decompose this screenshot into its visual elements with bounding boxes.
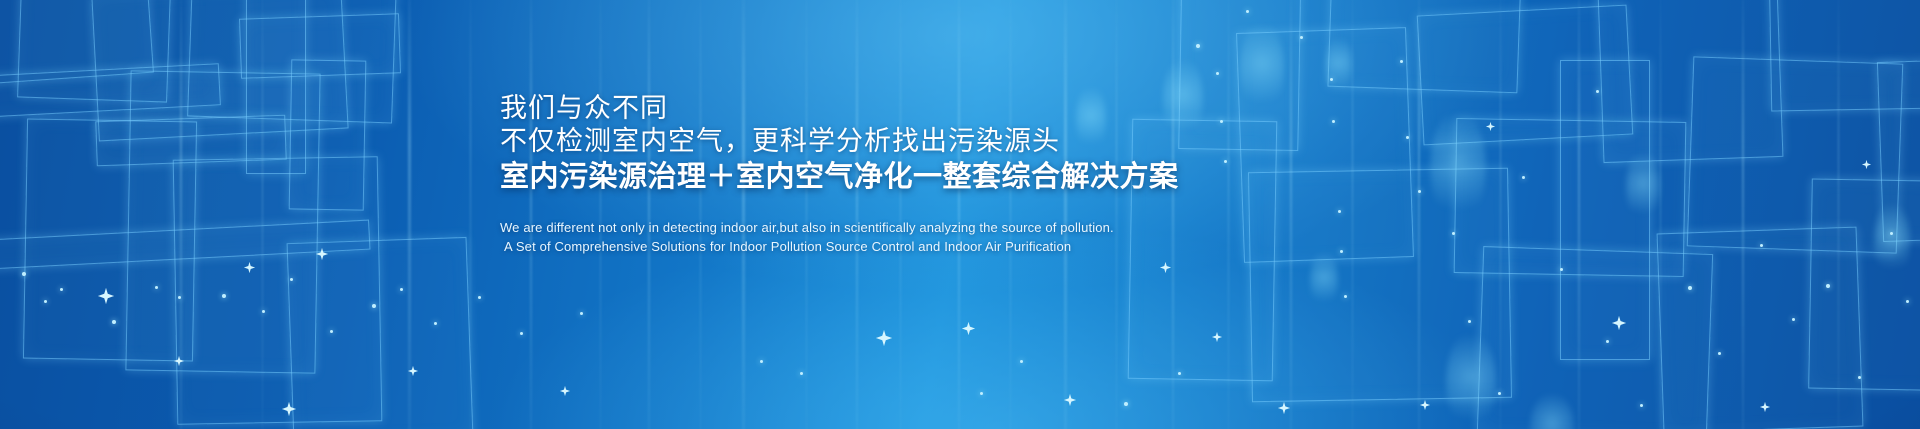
decor-light-streak — [1838, 0, 1839, 429]
decor-particle-dot — [1124, 402, 1128, 406]
decor-particle-dot — [112, 320, 116, 324]
decor-rectangle — [0, 220, 371, 271]
decor-sparkle-star — [244, 262, 255, 273]
decor-particle-dot — [1344, 295, 1347, 298]
decor-particle-dot — [1890, 232, 1893, 235]
decor-particle-dot — [1858, 376, 1861, 379]
decor-rectangle — [173, 156, 383, 425]
decor-particle-dot — [330, 330, 333, 333]
decor-rectangle — [287, 237, 474, 429]
decor-particle-dot — [262, 310, 265, 313]
decor-rectangle — [289, 59, 367, 210]
decor-rectangle — [1327, 0, 1522, 93]
decor-rectangle — [1877, 58, 1920, 242]
decor-sparkle-star — [560, 386, 570, 396]
subtitle-line-1: We are different not only in detecting i… — [500, 218, 1500, 237]
decor-particle-dot — [155, 286, 158, 289]
decor-particle-dot — [1596, 90, 1599, 93]
decor-particle-dot — [1792, 318, 1795, 321]
decor-particle-dot — [434, 322, 437, 325]
subtitle-line-2: A Set of Comprehensive Solutions for Ind… — [500, 237, 1500, 256]
decor-rectangle — [17, 0, 173, 103]
decor-particle-dot — [520, 332, 523, 335]
decor-particle-dot — [372, 304, 376, 308]
decor-rectangle — [246, 0, 306, 174]
decor-particle-dot — [980, 392, 983, 395]
decor-sparkle-star — [962, 322, 975, 335]
decor-particle-dot — [1178, 372, 1181, 375]
decor-particle-dot — [1606, 340, 1609, 343]
decor-particle-dot — [1640, 404, 1643, 407]
decor-rectangle — [1597, 0, 1784, 163]
decor-bokeh-blob — [1310, 250, 1338, 310]
decor-particle-dot — [1246, 10, 1249, 13]
decor-sparkle-star — [1862, 160, 1871, 169]
decor-particle-dot — [400, 288, 403, 291]
decor-sparkle-star — [1420, 400, 1430, 410]
decor-light-streak — [408, 0, 411, 429]
decor-light-streak — [470, 0, 471, 429]
decor-particle-dot — [222, 294, 226, 298]
decor-particle-dot — [1718, 352, 1721, 355]
decor-sparkle-star — [408, 366, 418, 376]
decor-particle-dot — [1216, 72, 1219, 75]
subtitle-block: We are different not only in detecting i… — [500, 218, 1500, 256]
decor-sparkle-star — [1064, 394, 1076, 406]
headline-line-3-emphasis: 室内污染源治理＋室内空气净化一整套综合解决方案 — [500, 158, 1500, 196]
decor-particle-dot — [1330, 78, 1333, 81]
decor-rectangle — [1477, 246, 1713, 429]
decor-rectangle — [239, 13, 401, 79]
decor-rectangle — [1687, 56, 1904, 253]
decor-particle-dot — [1300, 36, 1303, 39]
decor-rectangle — [0, 63, 221, 119]
decor-bokeh-blob — [1626, 150, 1660, 224]
decor-particle-dot — [1826, 284, 1830, 288]
decor-sparkle-star — [1278, 402, 1290, 414]
decor-particle-dot — [1522, 176, 1525, 179]
decor-sparkle-star — [876, 330, 892, 346]
decor-bokeh-blob — [1326, 34, 1352, 98]
decor-sparkle-star — [1160, 262, 1171, 273]
hero-banner: 我们与众不同 不仅检测室内空气，更科学分析找出污染源头 室内污染源治理＋室内空气… — [0, 0, 1920, 429]
decor-particle-dot — [478, 296, 481, 299]
decor-particle-dot — [44, 300, 47, 303]
decor-particle-dot — [60, 288, 63, 291]
decor-particle-dot — [1688, 286, 1692, 290]
decor-bokeh-blob — [1530, 392, 1574, 429]
decor-particle-dot — [800, 372, 803, 375]
decor-particle-dot — [1196, 44, 1200, 48]
decor-bokeh-blob — [1874, 200, 1910, 280]
decor-rectangle — [0, 0, 154, 87]
decor-rectangle — [1657, 227, 1864, 429]
decor-particle-dot — [1020, 360, 1023, 363]
decor-rectangle — [1808, 179, 1920, 392]
decor-particle-dot — [580, 312, 583, 315]
decor-sparkle-star — [174, 356, 184, 366]
decor-rectangle — [187, 0, 398, 124]
decor-rectangle — [125, 70, 320, 373]
decor-rectangle — [1769, 0, 1920, 111]
decor-particle-dot — [1906, 300, 1909, 303]
decor-light-streak — [1742, 0, 1744, 429]
decor-particle-dot — [1760, 244, 1763, 247]
decor-particle-dot — [1560, 268, 1563, 271]
decor-particle-dot — [1498, 392, 1501, 395]
decor-bokeh-blob — [1446, 330, 1496, 429]
decor-sparkle-star — [98, 288, 114, 304]
decor-light-streak — [1660, 0, 1661, 429]
decor-particle-dot — [290, 278, 293, 281]
decor-sparkle-star — [316, 248, 328, 260]
decor-sparkle-star — [282, 402, 296, 416]
decor-rectangle — [91, 0, 348, 141]
decor-sparkle-star — [1612, 316, 1626, 330]
decor-sparkle-star — [1760, 402, 1770, 412]
decor-light-streak — [1578, 0, 1580, 429]
decor-particle-dot — [760, 360, 763, 363]
decor-particle-dot — [22, 272, 26, 276]
decor-light-streak — [262, 0, 263, 429]
decor-rectangle — [1560, 60, 1650, 360]
banner-copy-block: 我们与众不同 不仅检测室内空气，更科学分析找出污染源头 室内污染源治理＋室内空气… — [500, 92, 1500, 256]
decor-light-streak — [180, 0, 182, 429]
decor-sparkle-star — [1212, 332, 1222, 342]
decor-rectangle — [95, 115, 286, 167]
decor-light-streak — [1500, 0, 1501, 429]
decor-particle-dot — [1400, 60, 1403, 63]
decor-particle-dot — [178, 296, 181, 299]
decor-rectangle — [23, 119, 197, 362]
headline-line-1: 我们与众不同 — [500, 92, 1500, 125]
headline-line-2: 不仅检测室内空气，更科学分析找出污染源头 — [500, 125, 1500, 158]
decor-particle-dot — [1468, 320, 1471, 323]
